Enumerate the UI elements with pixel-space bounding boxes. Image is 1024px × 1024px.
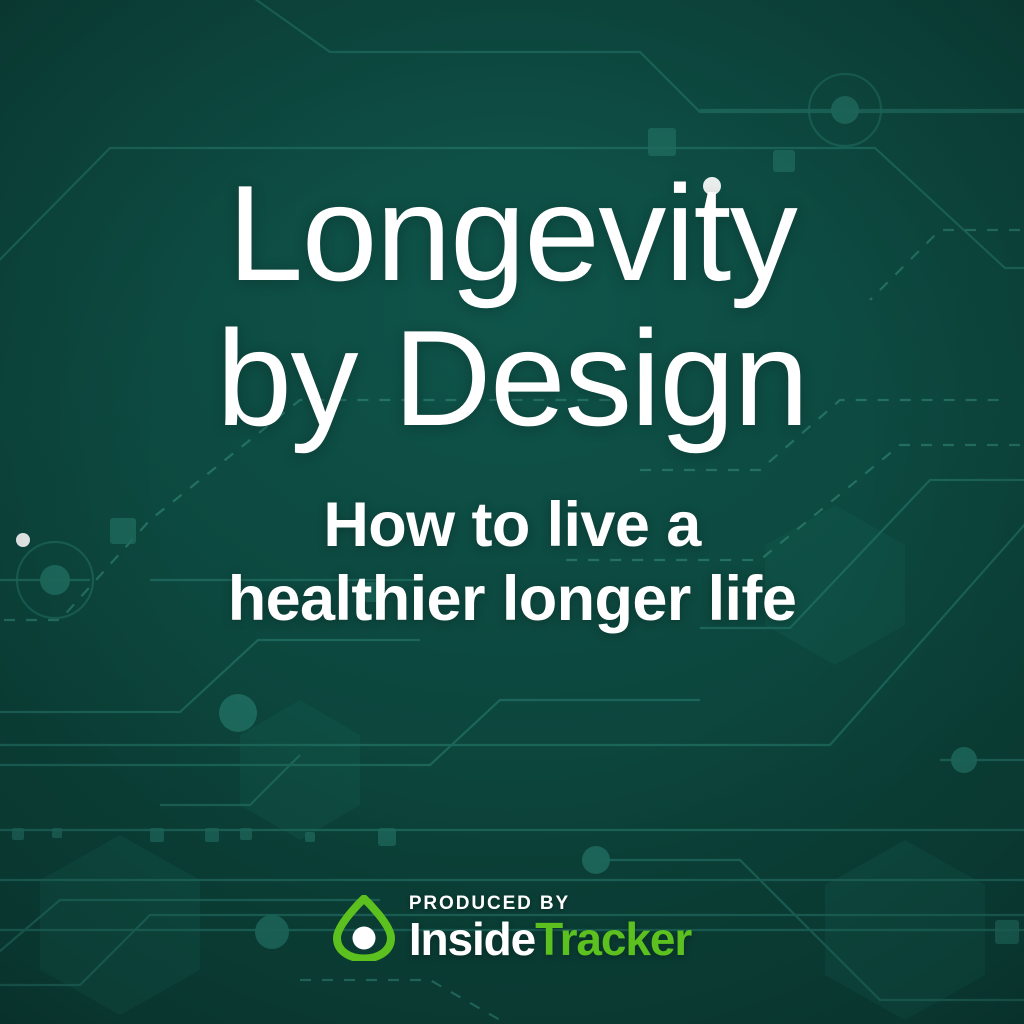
subtitle-line-1: How to live a <box>0 489 1024 563</box>
subtitle-line-2: healthier longer life <box>0 563 1024 637</box>
brand-name-first: Inside <box>409 913 535 965</box>
show-subtitle: How to live a healthier longer life <box>0 489 1024 636</box>
brand-name-second: Tracker <box>535 913 691 965</box>
brand-wordmark: PRODUCED BY InsideTracker <box>409 894 691 962</box>
show-title: Longevity by Design <box>0 166 1024 445</box>
podcast-cover-art: Longevity by Design How to live a health… <box>0 0 1024 1024</box>
produced-by-label: PRODUCED BY <box>409 894 691 913</box>
droplet-icon <box>333 895 395 961</box>
title-line-1: Longevity <box>0 166 1024 301</box>
producer-lockup: PRODUCED BY InsideTracker <box>0 894 1024 962</box>
cover-content: Longevity by Design How to live a health… <box>0 0 1024 1024</box>
title-line-2: by Design <box>0 311 1024 446</box>
brand-name: InsideTracker <box>409 916 691 962</box>
